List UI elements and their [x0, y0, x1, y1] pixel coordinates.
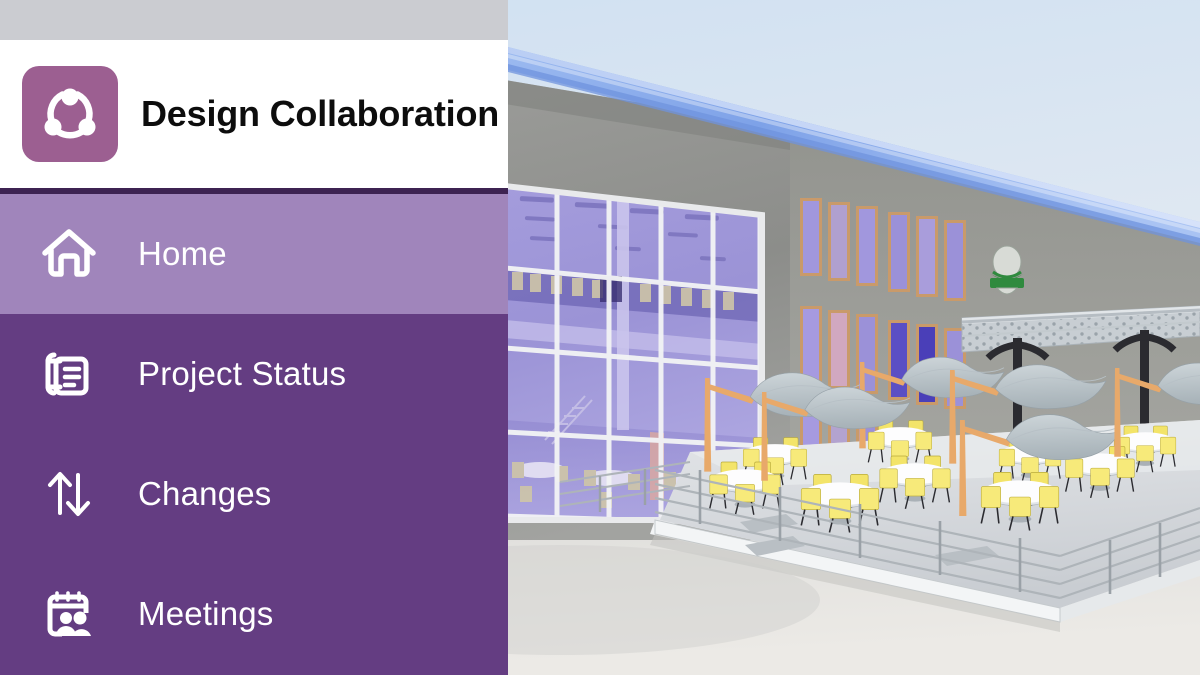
building-logo-emblem — [990, 246, 1024, 294]
sidebar-item-label-changes: Changes — [138, 475, 272, 513]
sidebar-item-label-project-status: Project Status — [138, 355, 346, 393]
sidebar-item-meetings[interactable]: Meetings — [0, 554, 508, 674]
sidebar: Design Collaboration Home — [0, 0, 508, 675]
calendar-people-icon — [38, 583, 100, 645]
sidebar-item-project-status[interactable]: Project Status — [0, 314, 508, 434]
screenshot-stage: Design Collaboration Home — [0, 0, 1200, 675]
sidebar-item-label-meetings: Meetings — [138, 595, 274, 633]
sidebar-nav: Home — [0, 194, 508, 675]
home-icon — [38, 223, 100, 285]
sidebar-item-home[interactable]: Home — [0, 194, 508, 314]
sidebar-item-changes[interactable]: Changes — [0, 434, 508, 554]
up-down-arrows-icon — [38, 463, 100, 525]
blueprint-icon — [38, 343, 100, 405]
sidebar-item-label-home: Home — [138, 235, 227, 273]
top-strip — [0, 0, 508, 40]
share-collaboration-icon — [22, 66, 118, 162]
page-title: Design Collaboration — [141, 93, 499, 135]
app-header: Design Collaboration — [0, 40, 508, 188]
